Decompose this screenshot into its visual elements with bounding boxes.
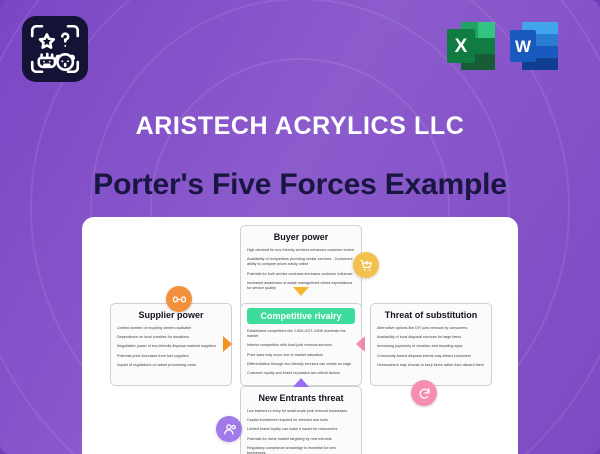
force-item-list: Alternative options like DIY junk remova… [377, 326, 485, 368]
force-box-threat-of-substitution[interactable]: Threat of substitution Alternative optio… [370, 303, 492, 386]
force-title: Competitive rivalry [247, 308, 355, 324]
force-item-list: Established competitors like 1-800-GOT-J… [247, 329, 355, 376]
arrow-down-icon [293, 287, 309, 296]
excel-letter: X [455, 36, 468, 57]
force-box-buyer-power[interactable]: Buyer power High demand for eco-friendly… [240, 225, 362, 310]
recycle-refresh-icon [411, 380, 437, 406]
excel-icon[interactable]: X [445, 20, 497, 72]
force-box-supplier-power[interactable]: Supplier power Limited number of recycli… [110, 303, 232, 386]
force-item: Dependence on local charities for donati… [117, 335, 225, 340]
force-item: Limited number of recycling centers avai… [117, 326, 225, 331]
arrow-up-icon [293, 378, 309, 387]
app-logo[interactable] [22, 16, 88, 82]
force-item: Low barriers to entry for small-scale ju… [247, 409, 355, 414]
force-item-list: Low barriers to entry for small-scale ju… [247, 409, 355, 454]
force-item: Negotiation power of eco-friendly dispos… [117, 344, 225, 349]
force-item: Impact of regulations on waste processin… [117, 363, 225, 368]
word-letter: W [515, 37, 532, 56]
force-item-list: Limited number of recycling centers avai… [117, 326, 225, 368]
scan-pets-logo-icon [29, 23, 81, 75]
force-item-list: High demand for eco-friendly services en… [247, 248, 355, 291]
force-item: Limited brand loyalty can make it easier… [247, 427, 355, 432]
force-box-new-entrants-threat[interactable]: New Entrants threat Low barriers to entr… [240, 386, 362, 454]
arrow-right-icon [223, 336, 232, 352]
force-item: Customer loyalty and brand reputation ar… [247, 371, 355, 376]
force-title: Threat of substitution [377, 309, 485, 321]
force-item: Price wars may occur due to market satur… [247, 353, 355, 358]
force-item: Capital investment required for vehicles… [247, 418, 355, 423]
force-item: Potential for bulk service contracts inc… [247, 272, 355, 277]
force-title: Supplier power [117, 309, 225, 321]
force-item: Differentiation through eco-friendly ser… [247, 362, 355, 367]
force-item: Intense competition with local junk remo… [247, 343, 355, 348]
link-chain-icon [166, 286, 192, 312]
force-item: Potential for niche market targeting by … [247, 437, 355, 442]
slide-canvas: X W ARISTECH ACRYLICS LLC Porter's Five … [0, 0, 600, 454]
diagram-card: Buyer power High demand for eco-friendly… [82, 217, 518, 454]
force-item: Homeowners may choose to keep items rath… [377, 363, 485, 368]
force-item: Community-based disposal events may attr… [377, 354, 485, 359]
force-item: Potential price increases from fuel supp… [117, 354, 225, 359]
force-item: Availability of local disposal services … [377, 335, 485, 340]
force-item: Increasing popularity of donation and re… [377, 344, 485, 349]
force-item: Established competitors like 1-800-GOT-J… [247, 329, 355, 339]
company-name: ARISTECH ACRYLICS LLC [0, 112, 600, 141]
force-item: Availability of competitors providing si… [247, 257, 355, 267]
shopping-cart-question-icon [353, 252, 379, 278]
force-box-competitive-rivalry[interactable]: Competitive rivalry Established competit… [240, 303, 362, 386]
force-title: New Entrants threat [247, 392, 355, 404]
force-item: Alternative options like DIY junk remova… [377, 326, 485, 331]
arrow-left-icon [356, 336, 365, 352]
force-title: Buyer power [247, 231, 355, 243]
user-person-icon [216, 416, 242, 442]
word-icon[interactable]: W [508, 20, 560, 72]
force-item: Regulatory compliance knowledge is essen… [247, 446, 355, 454]
force-item: High demand for eco-friendly services en… [247, 248, 355, 253]
page-title: Porter's Five Forces Example [0, 168, 600, 202]
